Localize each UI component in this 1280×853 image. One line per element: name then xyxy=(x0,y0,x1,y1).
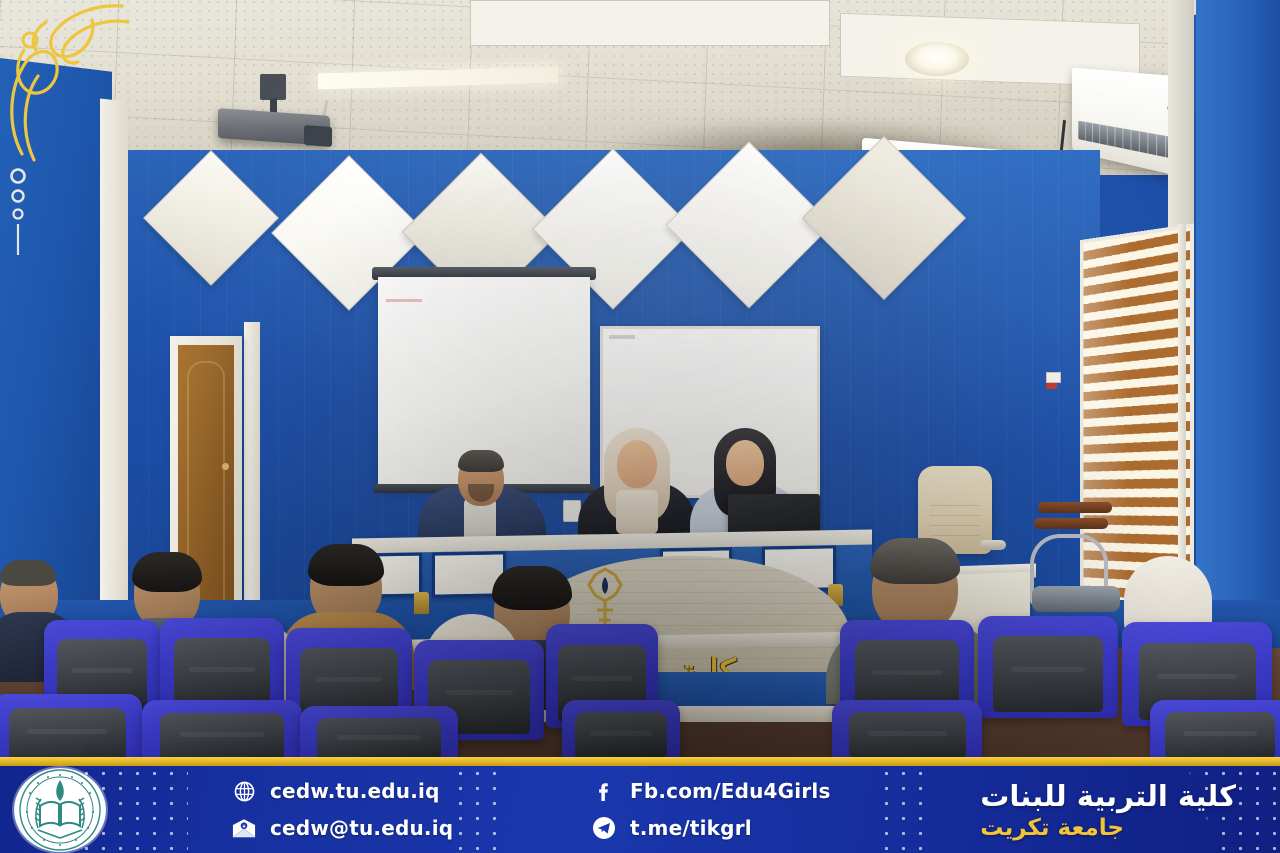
attendee-hair xyxy=(308,544,384,586)
facebook-icon xyxy=(592,779,616,803)
footer-telegram-row[interactable]: t.me/tikgrl xyxy=(592,816,831,840)
ceiling-panel xyxy=(470,0,830,46)
ceiling-light xyxy=(905,42,969,76)
panelist-center-face xyxy=(617,440,657,488)
auditorium-seat xyxy=(562,700,680,757)
wall-sensor xyxy=(1046,372,1061,383)
auditorium-seat xyxy=(142,700,302,757)
facebook-handle: Fb.com/Edu4Girls xyxy=(630,779,831,803)
chair-armrest xyxy=(980,540,1006,550)
chair-seat-bar xyxy=(1038,502,1112,513)
globe-icon xyxy=(232,779,256,803)
panelist-right-face xyxy=(726,440,764,486)
university-name-arabic: جامعة تكريت xyxy=(980,815,1124,841)
auditorium-seat xyxy=(832,700,982,757)
table-nameplate-stand xyxy=(414,592,429,614)
white-corner-column xyxy=(100,99,128,662)
panelist-center-collar xyxy=(616,490,658,534)
attendee-hair xyxy=(0,560,56,586)
footer-facebook-row[interactable]: Fb.com/Edu4Girls xyxy=(592,779,831,803)
email-address: cedw@tu.edu.iq xyxy=(270,816,453,840)
website-url: cedw.tu.edu.iq xyxy=(270,779,440,803)
auditorium-seat xyxy=(1150,700,1280,757)
projector-mount xyxy=(260,74,286,100)
attendee-hair xyxy=(132,552,202,592)
stacked-chairs xyxy=(1028,500,1124,624)
panelist-left-hair xyxy=(458,450,504,472)
college-seal-logo xyxy=(14,768,106,852)
dot-pattern xyxy=(878,766,936,853)
panelist-center xyxy=(578,428,696,548)
footer-website-row[interactable]: cedw.tu.edu.iq xyxy=(232,779,453,803)
footer-brand: كلية التربية للبنات جامعة تكريت xyxy=(980,766,1236,853)
screenshot-root: كلية xyxy=(0,0,1280,853)
telegram-handle: t.me/tikgrl xyxy=(630,816,752,840)
footer-social-column: Fb.com/Edu4Girls t.me/tikgrl xyxy=(592,766,831,853)
auditorium-seat xyxy=(978,616,1118,718)
telegram-icon xyxy=(592,816,616,840)
attendee-hair xyxy=(492,566,572,610)
chair-seat-bar xyxy=(1034,518,1108,529)
dot-pattern xyxy=(452,766,510,853)
college-name-arabic: كلية التربية للبنات xyxy=(980,779,1236,813)
attendee-hair xyxy=(870,538,960,584)
footer-contact-column: cedw.tu.edu.iq cedw@tu.edu.iq xyxy=(232,766,453,853)
projector-lens xyxy=(304,125,332,147)
footer-gold-rule xyxy=(0,757,1280,766)
door-knob xyxy=(222,463,229,470)
ceiling-projector xyxy=(218,96,340,142)
event-photograph: كلية xyxy=(0,0,1280,757)
footer-email-row[interactable]: cedw@tu.edu.iq xyxy=(232,816,453,840)
auditorium-seat xyxy=(0,694,142,757)
wall-sensor-led xyxy=(1046,383,1057,389)
envelope-icon xyxy=(232,816,256,840)
chair-seat-pad xyxy=(1032,586,1120,612)
white-trim-strip xyxy=(244,322,260,622)
auditorium-seat xyxy=(300,706,458,757)
